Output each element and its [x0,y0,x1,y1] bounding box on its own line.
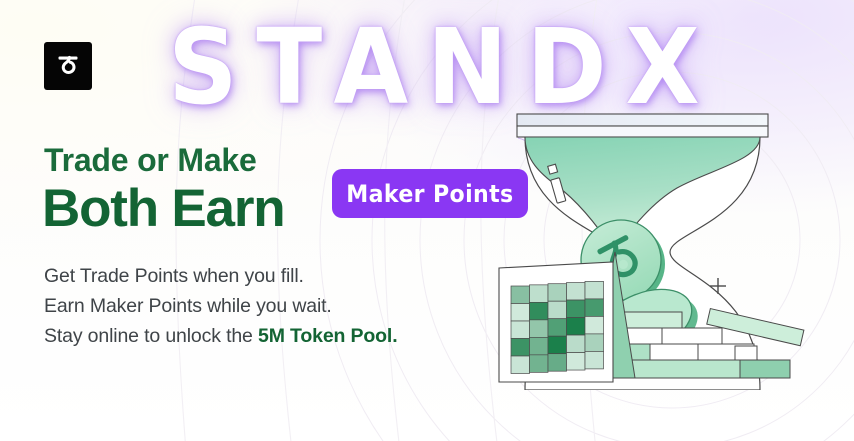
heatmap-cell [548,319,567,337]
heatmap-cell [530,320,549,338]
heatmap-cell [511,304,530,322]
heatmap-cell [567,353,586,371]
heatmap-cell [530,337,549,355]
copy-line-1: Get Trade Points when you fill. [44,261,397,291]
headline-line-2: Both Earn [42,178,284,239]
copy-line-2: Earn Maker Points while you wait. [44,291,397,321]
heatmap-cell [567,318,586,336]
heatmap-cell [511,339,530,357]
body-copy: Get Trade Points when you fill. Earn Mak… [44,261,397,351]
heatmap-cell [567,335,586,353]
hourglass-frame [517,114,768,137]
token-pool-highlight: 5M Token Pool. [258,325,397,347]
heatmap-cell [585,316,604,334]
heatmap-cell [548,354,567,372]
standx-logo[interactable] [44,42,92,90]
heatmap-cells [511,281,604,373]
heatmap-cell [530,355,549,373]
maker-points-badge-label: Maker Points [346,180,513,208]
copy-line-3-prefix: Stay online to unlock the [44,325,258,347]
heatmap-board [499,262,613,382]
heatmap-cell [530,302,549,320]
heatmap-cell [548,336,567,354]
heatmap-cell [585,334,604,352]
heatmap-cell [548,301,567,319]
copy-line-3: Stay online to unlock the 5M Token Pool. [44,321,397,351]
heatmap-cell [548,284,567,302]
heatmap-cell [585,299,604,317]
promo-banner: STANDX Trade or Make Both Earn Maker Poi… [0,0,854,441]
heatmap-cell [567,300,586,318]
heatmap-cell [511,321,530,339]
hourglass-rewards-illustration [495,100,805,390]
heatmap-cell [585,351,604,369]
standx-logo-glyph-icon [53,51,83,81]
heatmap-cell [530,285,549,303]
heatmap-cell [511,356,530,374]
heatmap-cell [567,283,586,301]
headline-line-1: Trade or Make [44,142,257,179]
heatmap-cell [585,281,604,299]
heatmap-cell [511,286,530,304]
